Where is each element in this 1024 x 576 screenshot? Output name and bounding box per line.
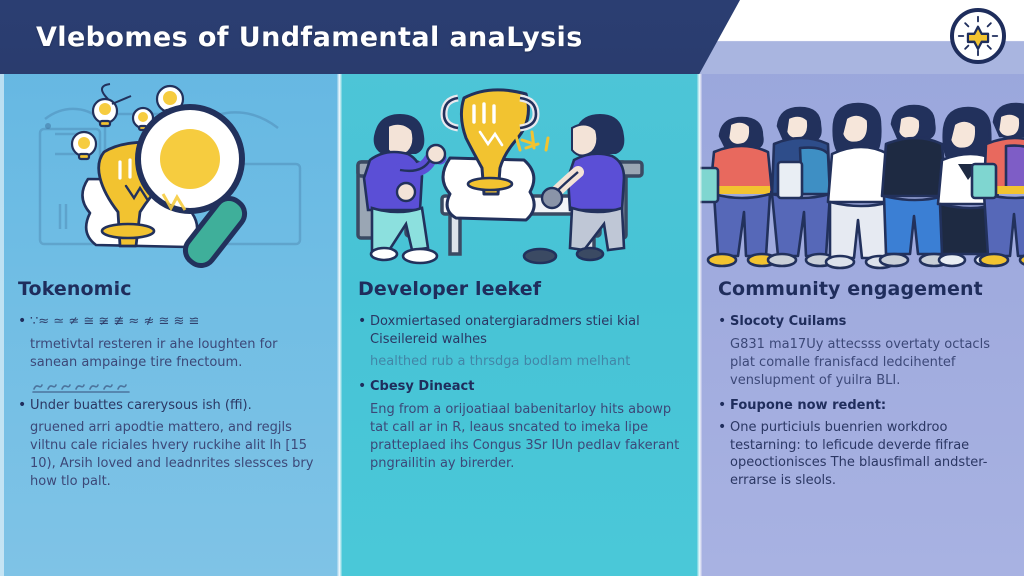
- developer-paragraph: Eng from a orijoatiaal babenitarloy hits…: [370, 401, 682, 473]
- community-engagement-text: Community engagement • Slocoty Cuilams G…: [700, 278, 1024, 570]
- scribble-line: [30, 379, 322, 393]
- community-engagement-heading: Community engagement: [718, 278, 1006, 300]
- infographic-poster: Tokenomic • ∵≈ ≃ ≄ ≅ ≆ ≇ ≈ ≉ ≊ ≋ ≌ trmet…: [0, 0, 1024, 576]
- developer-leekef-heading: Developer leekef: [358, 278, 682, 300]
- column-community-engagement: Community engagement • Slocoty Cuilams G…: [700, 0, 1024, 576]
- community-paragraph-1: G831 ma17Uy attecsss overtaty octacls pl…: [730, 336, 1006, 390]
- bullet-dot: •: [18, 313, 30, 331]
- developer-leekef-illustration: [340, 74, 700, 274]
- column-tokenomic: Tokenomic • ∵≈ ≃ ≄ ≅ ≆ ≇ ≈ ≉ ≊ ≋ ≌ trmet…: [0, 0, 340, 576]
- tokenomic-bullet-2: Under buattes carerysous ish (ffi).: [30, 397, 322, 415]
- starburst-icon: [956, 14, 1000, 58]
- developer-scribble-text: healthed rub a thrsdga bodlam melhant: [370, 353, 682, 371]
- list-item: • ∵≈ ≃ ≄ ≅ ≆ ≇ ≈ ≉ ≊ ≋ ≌: [18, 313, 322, 331]
- tokenomic-illustration: [0, 74, 340, 274]
- scribble-text: ∵≈ ≃ ≄ ≅ ≆ ≇ ≈ ≉ ≊ ≋ ≌: [30, 313, 322, 331]
- tokenomic-heading: Tokenomic: [18, 278, 322, 300]
- developer-bullet-1: Doxmiertased onatergiaradmers stiei kial…: [370, 313, 682, 348]
- column-developer-leekef: Developer leekef • Doxmiertased onatergi…: [340, 0, 700, 576]
- community-bullet-2: Foupone now redent:: [730, 397, 1006, 415]
- community-bullet-3: One purticiuls buenrien workdroo testarn…: [730, 419, 1006, 489]
- bullet-dot: •: [18, 397, 30, 415]
- tokenomic-text: Tokenomic • ∵≈ ≃ ≄ ≅ ≆ ≇ ≈ ≉ ≊ ≋ ≌ trmet…: [0, 278, 340, 570]
- bullet-dot: •: [718, 419, 730, 489]
- tokenomic-paragraph-2: gruened arri apodtie mattero, and regjls…: [30, 419, 322, 491]
- bullet-dot: •: [718, 313, 730, 331]
- community-engagement-illustration: [700, 74, 1024, 274]
- bullet-dot: •: [358, 378, 370, 396]
- list-item: • One purticiuls buenrien workdroo testa…: [718, 419, 1006, 489]
- developer-leekef-text: Developer leekef • Doxmiertased onatergi…: [340, 278, 700, 570]
- page-title: Vlebomes of Undfamental anaLysis: [36, 22, 583, 53]
- tokenomic-paragraph-1: trmetivtal resteren ir ahe loughten for …: [30, 336, 322, 372]
- community-bullet-1: Slocoty Cuilams: [730, 313, 1006, 331]
- left-edge-border: [0, 0, 4, 576]
- list-item: • Under buattes carerysous ish (ffi).: [18, 397, 322, 415]
- bullet-dot: •: [718, 397, 730, 415]
- list-item: • Doxmiertased onatergiaradmers stiei ki…: [358, 313, 682, 348]
- bullet-dot: •: [358, 313, 370, 348]
- header-band: Vlebomes of Undfamental anaLysis: [0, 0, 740, 74]
- developer-bullet-2: Cbesy Dineact: [370, 378, 682, 396]
- columns-container: Tokenomic • ∵≈ ≃ ≄ ≅ ≆ ≇ ≈ ≉ ≊ ≋ ≌ trmet…: [0, 0, 1024, 576]
- list-item: • Foupone now redent:: [718, 397, 1006, 415]
- list-item: • Slocoty Cuilams: [718, 313, 1006, 331]
- list-item: • Cbesy Dineact: [358, 378, 682, 396]
- starburst-badge[interactable]: [950, 8, 1006, 64]
